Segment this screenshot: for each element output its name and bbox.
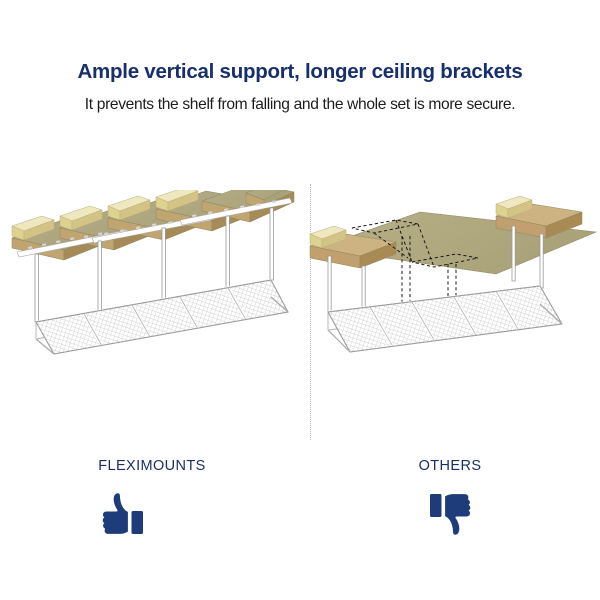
others-illustration bbox=[300, 190, 600, 420]
thumbs-down-icon bbox=[427, 492, 473, 536]
fleximounts-caption: FLEXIMOUNTS bbox=[22, 458, 282, 474]
thumbs-up-glyph bbox=[100, 492, 146, 536]
thumbs-down-glyph bbox=[427, 492, 473, 536]
page-title: Ample vertical support, longer ceiling b… bbox=[0, 0, 600, 84]
fleximounts-illustration bbox=[2, 190, 302, 420]
comparison-infographic: Ample vertical support, longer ceiling b… bbox=[0, 0, 600, 600]
others-caption: OTHERS bbox=[330, 458, 570, 474]
others-rack-drawing bbox=[300, 190, 600, 420]
fleximounts-rack-drawing bbox=[2, 190, 302, 420]
page-subtitle: It prevents the shelf from falling and t… bbox=[0, 84, 600, 114]
thumbs-up-icon bbox=[100, 492, 146, 536]
header: Ample vertical support, longer ceiling b… bbox=[0, 0, 600, 113]
